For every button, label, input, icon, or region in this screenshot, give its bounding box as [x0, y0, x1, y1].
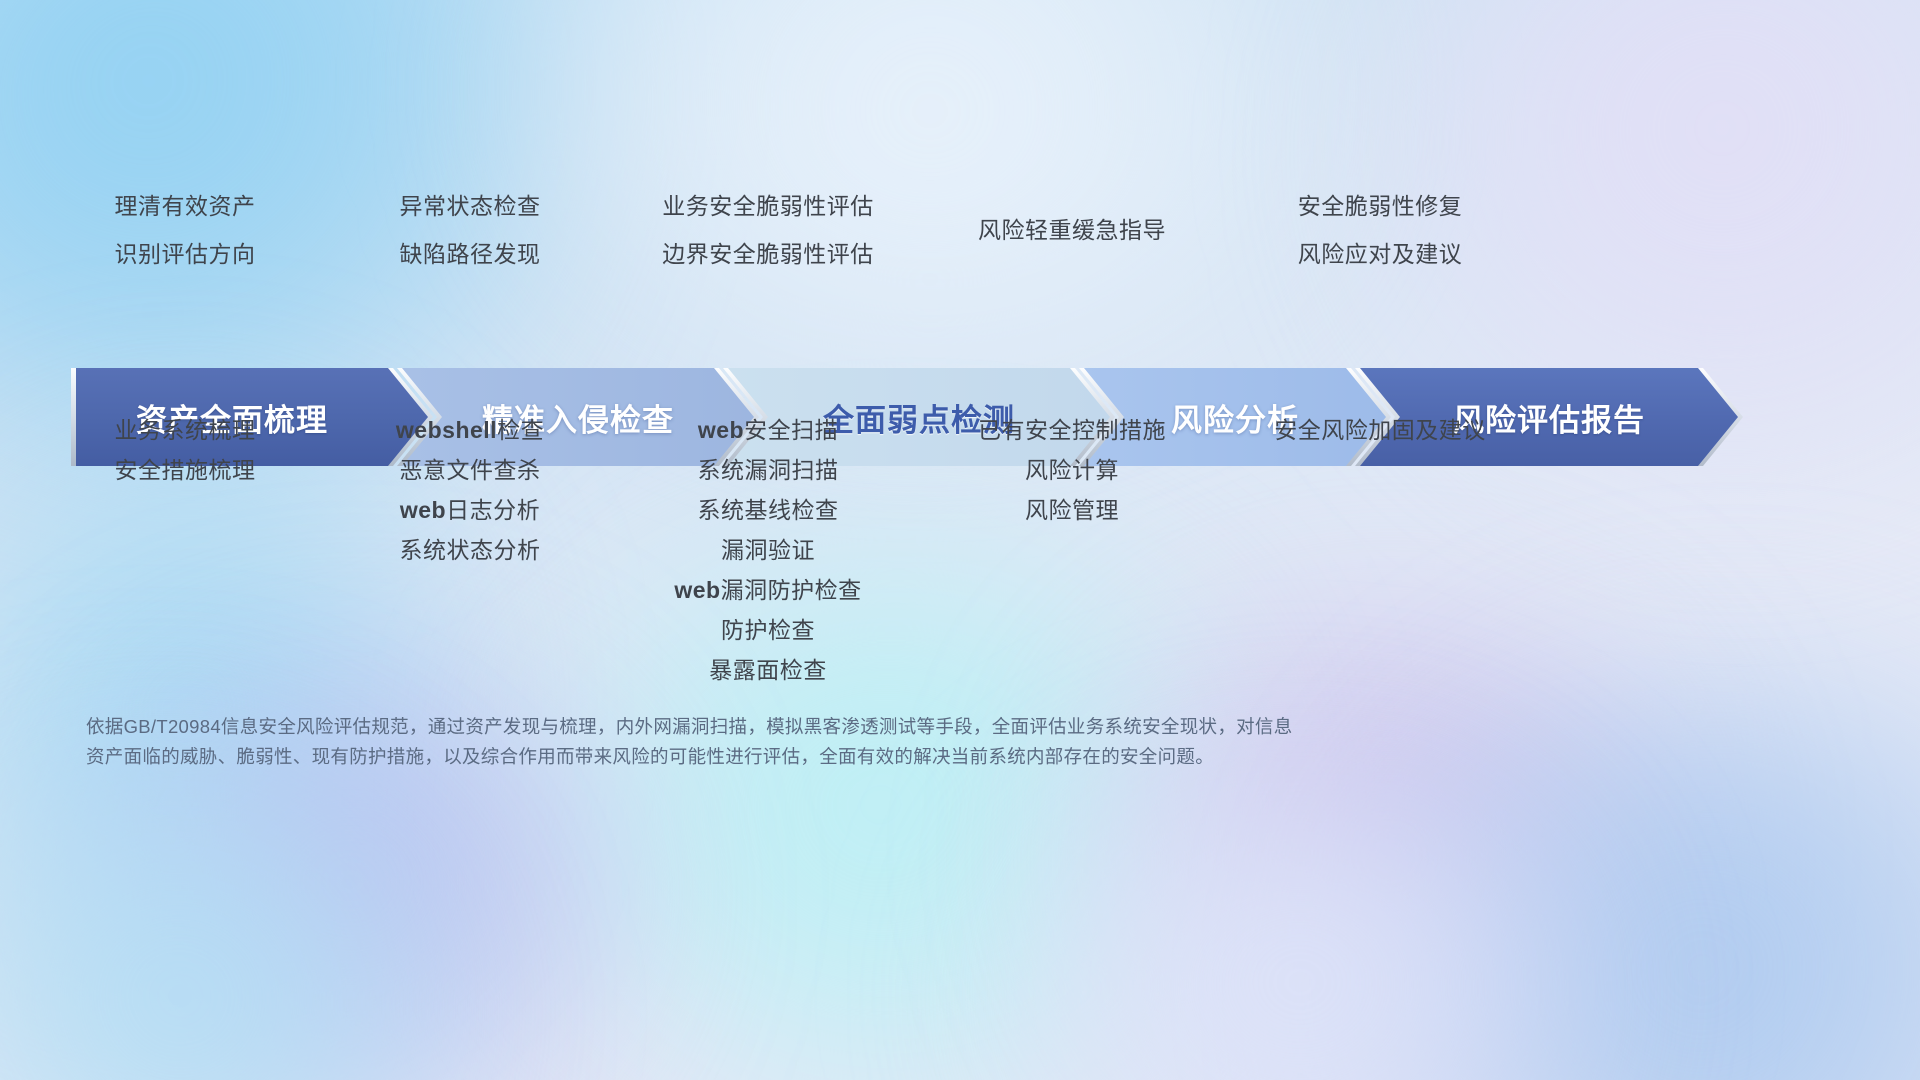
detail-list-item: web漏洞防护检查 [593, 570, 943, 610]
detail-item-latin: webshell [396, 417, 497, 443]
detail-list-item: 已有安全控制措施 [897, 410, 1247, 450]
detail-list-column-5: 安全风险加固及建议 [1205, 410, 1555, 450]
top-note-text: 业务安全脆弱性评估 [593, 182, 943, 230]
detail-list-item: 安全风险加固及建议 [1205, 410, 1555, 450]
slide-canvas: 理清有效资产识别评估方向异常状态检查缺陷路径发现业务安全脆弱性评估边界安全脆弱性… [0, 0, 1920, 1080]
footer-description: 依据GB/T20984信息安全风险评估规范，通过资产发现与梳理，内外网漏洞扫描，… [86, 712, 1346, 772]
detail-list-item: 系统漏洞扫描 [593, 450, 943, 490]
top-note-column-3: 业务安全脆弱性评估边界安全脆弱性评估 [593, 182, 943, 278]
detail-item-latin: web [698, 417, 744, 443]
top-note-text: 风险轻重缓急指导 [897, 206, 1247, 254]
detail-list-item: 暴露面检查 [593, 650, 943, 690]
detail-item-latin: web [400, 497, 446, 523]
footer-line-2: 资产面临的威胁、脆弱性、现有防护措施，以及综合作用而带来风险的可能性进行评估，全… [86, 742, 1346, 772]
top-annotation-row: 理清有效资产识别评估方向异常状态检查缺陷路径发现业务安全脆弱性评估边界安全脆弱性… [100, 182, 1840, 282]
footer-line-1: 依据GB/T20984信息安全风险评估规范，通过资产发现与梳理，内外网漏洞扫描，… [86, 712, 1346, 742]
top-note-text: 风险应对及建议 [1205, 230, 1555, 278]
detail-list-item: 防护检查 [593, 610, 943, 650]
detail-item-cjk: 漏洞防护检查 [721, 577, 862, 603]
top-note-column-4: 风险轻重缓急指导 [897, 206, 1247, 254]
detail-list-item: 风险计算 [897, 450, 1247, 490]
detail-list-item: 风险管理 [897, 490, 1247, 530]
detail-list-item: 系统基线检查 [593, 490, 943, 530]
detail-item-cjk: 日志分析 [446, 497, 540, 523]
detail-item-cjk: 检查 [497, 417, 544, 443]
detail-item-latin: web [674, 577, 720, 603]
detail-list-item: web安全扫描 [593, 410, 943, 450]
top-note-text: 边界安全脆弱性评估 [593, 230, 943, 278]
detail-list-column-3: web安全扫描系统漏洞扫描系统基线检查漏洞验证web漏洞防护检查防护检查暴露面检… [593, 410, 943, 690]
top-note-text: 安全脆弱性修复 [1205, 182, 1555, 230]
detail-item-cjk: 安全扫描 [744, 417, 838, 443]
top-note-column-5: 安全脆弱性修复风险应对及建议 [1205, 182, 1555, 278]
detail-list-column-4: 已有安全控制措施风险计算风险管理 [897, 410, 1247, 530]
detail-list-item: 漏洞验证 [593, 530, 943, 570]
